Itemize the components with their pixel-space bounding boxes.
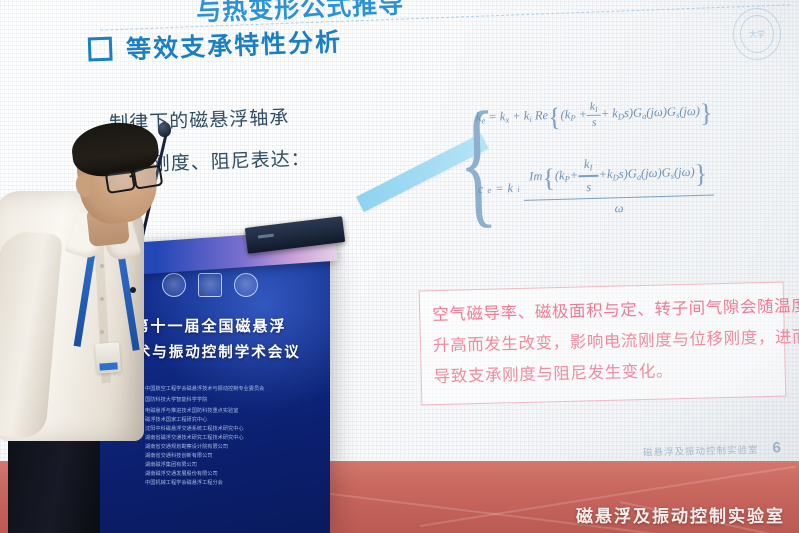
university-emblem-icon: 大学: [733, 8, 781, 60]
conference-presentation-photo: 与热变形公式推导 等效支承特性分析 大学 制律下的磁悬浮轴承 支承刚度、阻尼表达…: [0, 0, 799, 533]
eyeglass-lens-left: [105, 169, 136, 194]
ce-frac-num: kI: [578, 157, 599, 173]
ke-fraction-ki-over-s: kIs: [587, 101, 602, 130]
ce-ki: k: [507, 182, 513, 197]
ke-ki-sub: i: [529, 114, 532, 124]
ke-frac-num: kI: [587, 101, 601, 115]
ce-open-curly: {: [542, 163, 555, 192]
ce-lhs-sub: e: [487, 185, 491, 195]
ce-equals: =: [495, 182, 504, 197]
ce-frac-num-sub: I: [589, 162, 592, 172]
ce-lhs: c: [478, 182, 484, 197]
ce-ga-arg: (jω): [641, 166, 662, 181]
ce-frac-den: s: [583, 179, 594, 194]
photo-watermark: 磁悬浮及振动控制实验室: [576, 502, 785, 527]
ce-gs-arg: (jω): [674, 165, 695, 180]
eyeglass-lens-right: [132, 165, 163, 190]
clip-microphone-icon: [130, 287, 136, 293]
ce-im-operator: Im: [529, 169, 543, 183]
ce-main-fraction: Im{(kP+kIs+kDs)Ga(jω)Gs(jω)} ω: [523, 154, 715, 219]
ce-ki-sub: i: [517, 184, 520, 194]
shirt-button: [100, 297, 104, 301]
ke-plus1: +: [512, 109, 521, 123]
logo-circle-3-icon: [234, 273, 258, 297]
ke-re-operator: Re: [535, 108, 549, 122]
speaker-at-podium: [0, 0, 205, 533]
ce-fraction-ki-over-s: kIs: [578, 157, 599, 195]
ke-close-curly: }: [700, 98, 713, 127]
ke-open-curly: {: [548, 103, 561, 132]
equation-block: { ke = kx + ki Re{(kP +kIs+ kDs)Ga(jω)Gs…: [453, 79, 797, 238]
emblem-inner-ring: 大学: [740, 15, 774, 53]
ce-close-curly: }: [694, 159, 707, 188]
ke-kp-sub: P: [570, 113, 575, 123]
highlight-note-box: 空气磁导率、磁极面积与定、转子间气隙会随温度 升高而发生改变，影响电流刚度与位移…: [419, 282, 787, 406]
ke-frac-den: s: [589, 117, 600, 129]
ke-lhs-sub: e: [481, 115, 485, 125]
badge-accent-bar: [99, 362, 117, 370]
ke-frac-num-sub: I: [595, 105, 598, 114]
shirt-button: [100, 330, 104, 334]
equation-ke: ke = kx + ki Re{(kP +kIs+ kDs)Ga(jω)Gs(j…: [475, 98, 712, 135]
ke-equals: =: [488, 110, 497, 124]
slide-page-number: 6: [772, 439, 781, 456]
laptop-logo-icon: [258, 234, 274, 239]
ce-denominator-omega: ω: [614, 201, 623, 216]
shirt-button: [100, 264, 104, 268]
ce-frac-numerator: Im{(kP+kIs+kDs)Ga(jω)Gs(jω)}: [523, 154, 714, 197]
ke-plus3: +: [601, 106, 610, 120]
slide-footer-lab-name: 磁悬浮及振动控制实验室: [643, 442, 759, 459]
ke-gs-arg: (jω): [679, 104, 700, 119]
ke-kx-sub: x: [505, 115, 509, 125]
ce-inner-frac-bar: [578, 175, 598, 177]
equation-ce: ce = ki Im{(kP+kIs+kDs)Ga(jω)Gs(jω)} ω: [477, 154, 714, 220]
slide-footer: 磁悬浮及振动控制实验室 6: [643, 439, 781, 459]
conference-badge: [95, 342, 121, 374]
ke-ga-arg: (jω): [646, 105, 667, 120]
